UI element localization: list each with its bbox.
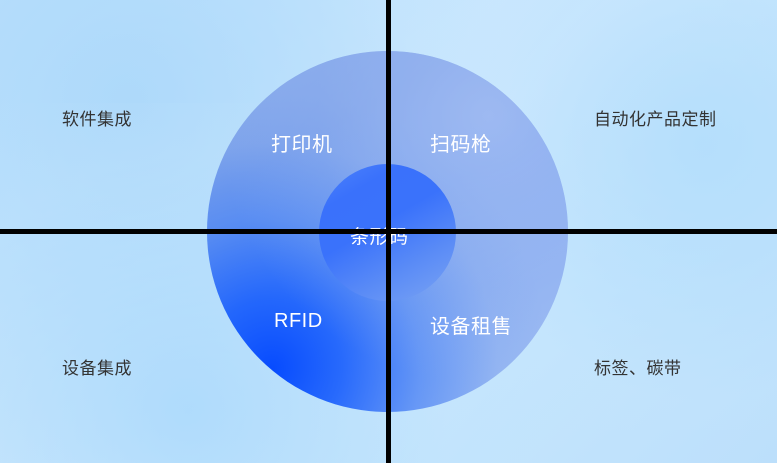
ring-label-rental[interactable]: 设备租售 bbox=[430, 310, 512, 339]
ring-label-rfid[interactable]: RFID bbox=[274, 310, 323, 333]
quadrant-label-labels-ribbons[interactable]: 标签、碳带 bbox=[594, 354, 682, 379]
quadrant-label-equipment-integration[interactable]: 设备集成 bbox=[62, 354, 132, 379]
axis-horizontal-line bbox=[0, 229, 777, 234]
center-label-barcode[interactable]: 条形码 bbox=[350, 222, 409, 249]
diagram-canvas: 打印机 扫码枪 RFID 设备租售 条形码 软件集成 自动化产品定制 设备集成 … bbox=[0, 0, 777, 463]
ring-label-printer[interactable]: 打印机 bbox=[271, 128, 333, 157]
quadrant-label-software-integration[interactable]: 软件集成 bbox=[62, 105, 132, 130]
ring-label-scanner[interactable]: 扫码枪 bbox=[430, 128, 492, 157]
quadrant-label-automation-customized[interactable]: 自动化产品定制 bbox=[594, 105, 717, 130]
